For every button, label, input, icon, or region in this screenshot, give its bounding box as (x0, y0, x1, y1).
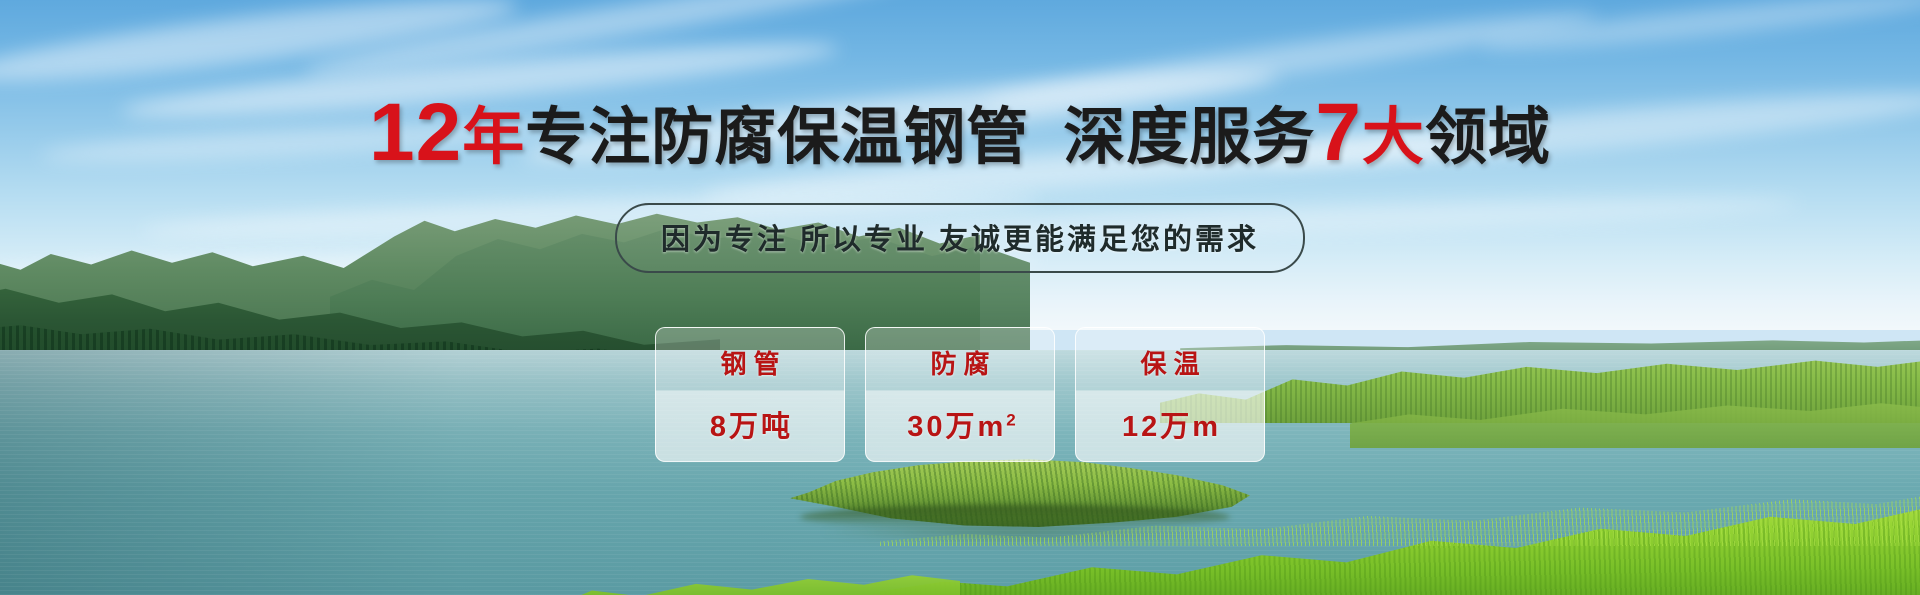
stat-card-title: 钢管 (720, 344, 786, 381)
headline: 12年专注防腐保温钢管深度服务7大领域 (0, 92, 1920, 174)
headline-domains-unit: 大 (1362, 103, 1425, 172)
stat-card-value-superscript: 2 (1006, 410, 1015, 429)
stat-cards: 钢管 8万吨 防腐 30万m2 保温 12万m (655, 327, 1265, 462)
headline-segment-three: 领域 (1425, 103, 1551, 172)
headline-segment-two: 深度服务 (1063, 103, 1315, 172)
headline-segment-one: 专注防腐保温钢管 (525, 103, 1029, 172)
stat-card-value: 12万m (1122, 403, 1221, 445)
stat-card-value-text: 30万m (907, 411, 1006, 443)
banner-content: 12年专注防腐保温钢管深度服务7大领域 因为专注 所以专业 友诚更能满足您的需求… (0, 0, 1920, 595)
headline-years-number: 12 (369, 87, 462, 178)
subtitle-pill: 因为专注 所以专业 友诚更能满足您的需求 (615, 203, 1305, 273)
stat-card-value: 30万m2 (907, 403, 1016, 445)
stat-card-steel-pipe[interactable]: 钢管 8万吨 (655, 327, 845, 462)
subtitle-container: 因为专注 所以专业 友诚更能满足您的需求 (0, 203, 1920, 273)
headline-domains-number: 7 (1315, 87, 1362, 178)
stat-card-title: 保温 (1140, 344, 1206, 381)
stat-card-value-text: 12万m (1122, 411, 1221, 443)
stat-card-insulation[interactable]: 保温 12万m (1075, 327, 1265, 462)
stat-card-value: 8万吨 (710, 403, 793, 445)
stat-card-title: 防腐 (930, 344, 996, 381)
stat-card-value-text: 8万吨 (710, 411, 793, 443)
stat-card-anticorrosion[interactable]: 防腐 30万m2 (865, 327, 1055, 462)
headline-years-unit: 年 (462, 103, 525, 172)
hero-banner: 12年专注防腐保温钢管深度服务7大领域 因为专注 所以专业 友诚更能满足您的需求… (0, 0, 1920, 595)
